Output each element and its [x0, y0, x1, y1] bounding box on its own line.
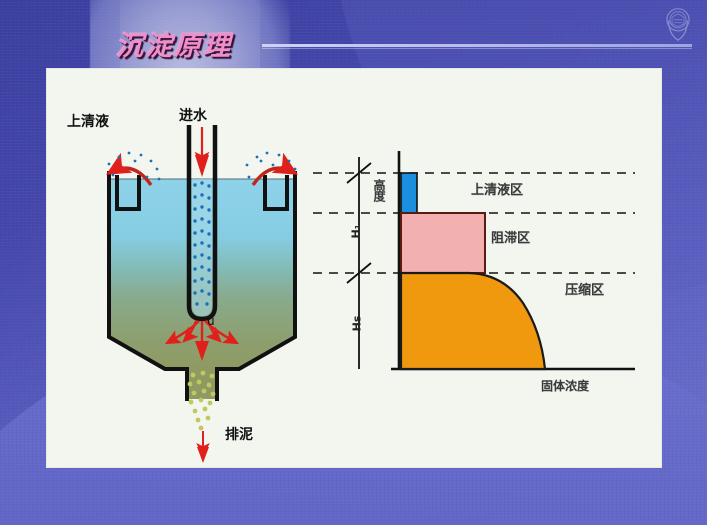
- zone-label-compression: 压缩区: [565, 279, 604, 298]
- chart-graphics: [313, 127, 661, 447]
- height-marker-h1: H₁: [350, 224, 363, 238]
- influent-label: 进水: [179, 105, 207, 125]
- solids-concentration-chart: 高度 固体浓度 H₁ Hs 上清液区 阻滞区 压缩区: [313, 127, 661, 447]
- supernatant-label: 上清液: [67, 111, 109, 131]
- title-rule: [262, 44, 692, 47]
- sludge-discharge-label: 排泥: [225, 424, 253, 444]
- zone-label-hindered: 阻滞区: [491, 227, 530, 246]
- bar-compression-zone: [401, 273, 545, 369]
- chart-y-axis-label: 高度: [371, 179, 388, 201]
- height-marker-hs: Hs: [350, 316, 363, 332]
- diagram-canvas: 上清液 进水 u 排泥: [46, 68, 662, 468]
- chart-x-axis-label: 固体浓度: [541, 377, 589, 394]
- bar-supernatant-zone: [401, 173, 417, 213]
- institution-emblem-icon: [661, 6, 695, 42]
- title-rule-shadow: [262, 48, 692, 49]
- bar-hindered-zone: [401, 213, 485, 273]
- slide-root: 沉淀原理: [0, 0, 707, 525]
- zone-label-supernatant: 上清液区: [471, 179, 523, 198]
- settling-velocity-label: u: [207, 314, 215, 328]
- page-title: 沉淀原理: [116, 24, 232, 63]
